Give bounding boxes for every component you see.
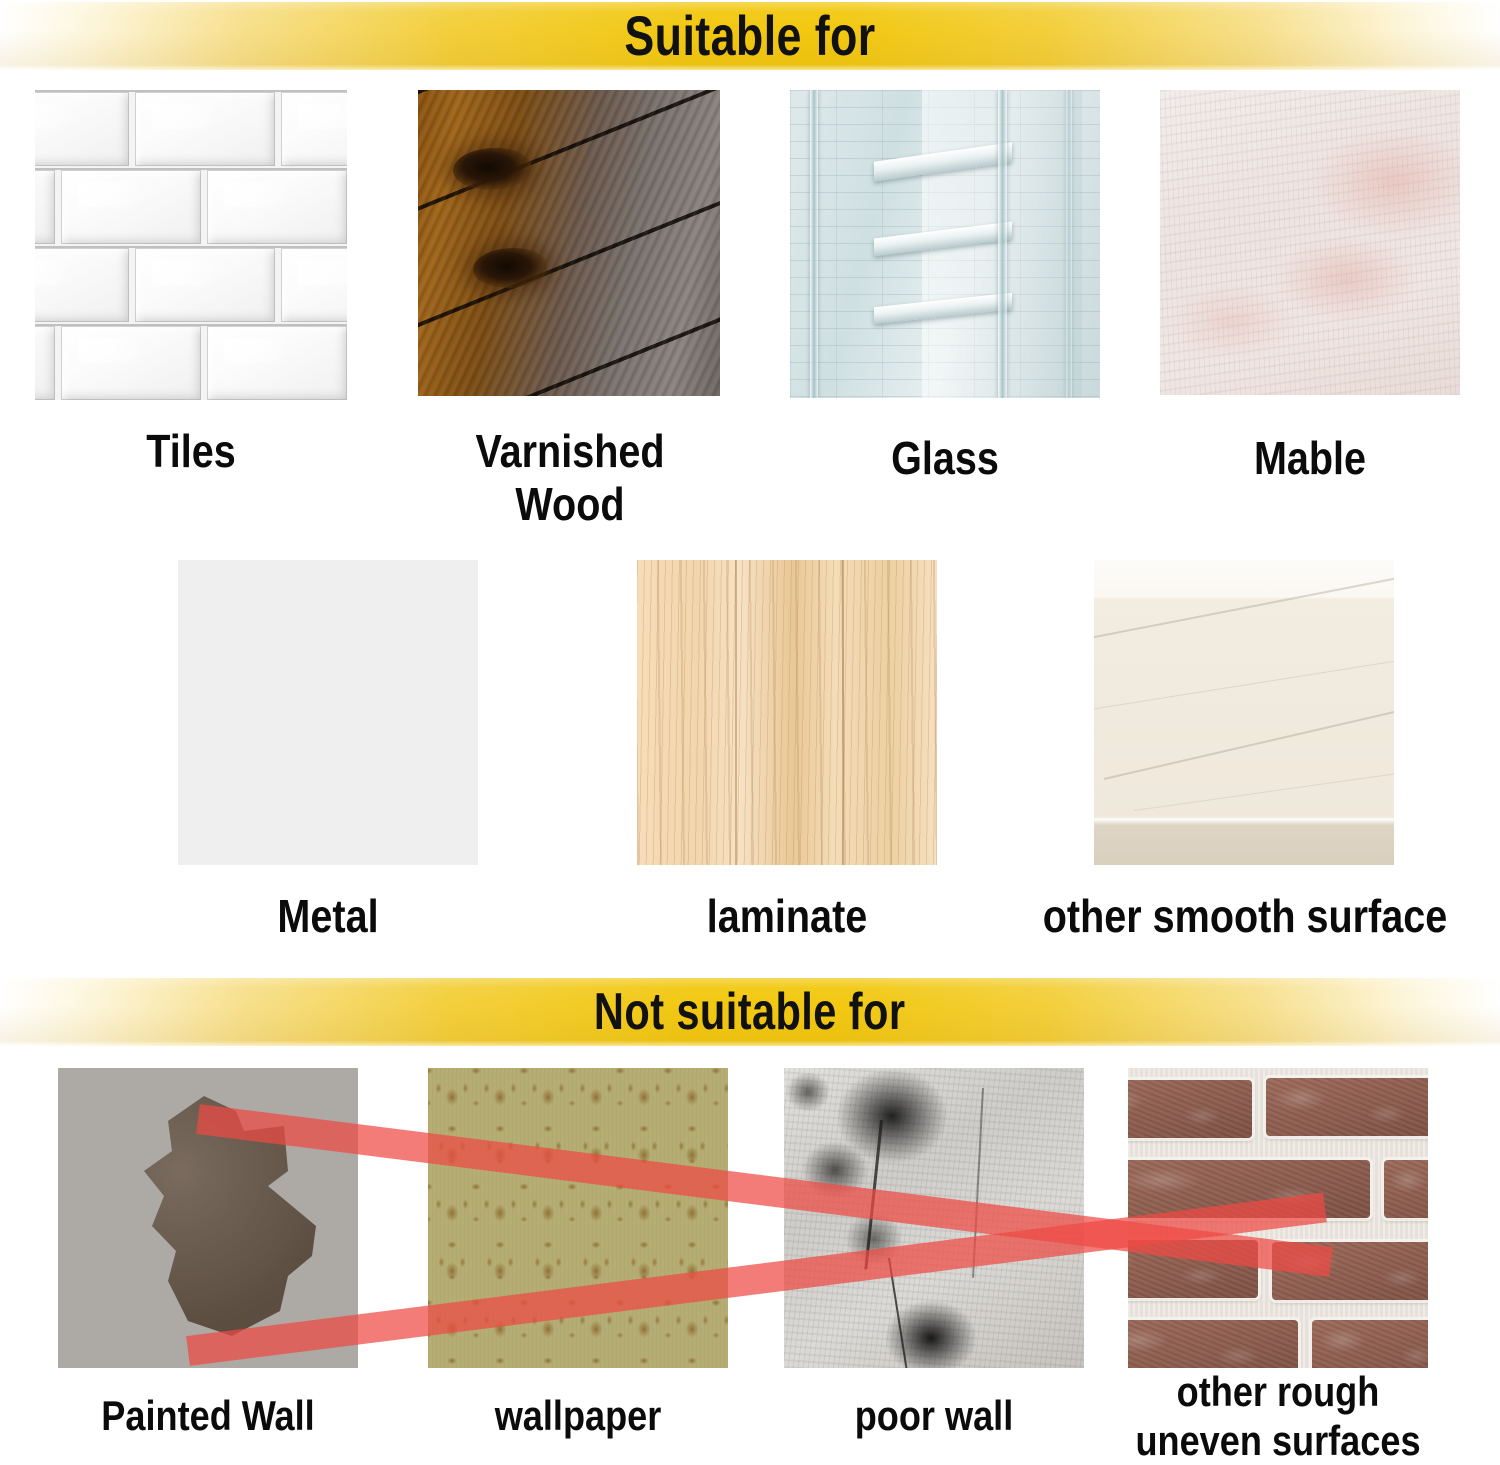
wallpaper-motif — [476, 1348, 524, 1368]
image-laminate — [637, 560, 937, 865]
image-painted-wall — [58, 1068, 358, 1368]
wallpaper-motif — [428, 1348, 476, 1368]
wallpaper-motif — [692, 1174, 728, 1232]
wallpaper-motif — [524, 1348, 572, 1368]
wallpaper-motif — [716, 1232, 728, 1290]
wallpaper-motif — [668, 1116, 716, 1174]
image-other-smooth-surface — [1094, 560, 1394, 865]
image-brick-wall — [1128, 1068, 1428, 1368]
wallpaper-motif — [644, 1068, 692, 1116]
wallpaper-motif — [716, 1116, 728, 1174]
not-suitable-for-banner: Not suitable for — [0, 978, 1500, 1046]
caption-laminate: laminate — [658, 890, 916, 943]
wallpaper-motif — [452, 1290, 500, 1348]
wallpaper-motif — [524, 1232, 572, 1290]
wallpaper-motif — [572, 1232, 620, 1290]
image-varnished-wood — [418, 90, 720, 396]
wallpaper-motif — [620, 1116, 668, 1174]
wallpaper-motif — [596, 1290, 644, 1348]
wallpaper-motif — [500, 1290, 548, 1348]
caption-other-smooth-surface: other smooth surface — [1034, 890, 1455, 943]
wallpaper-motif — [692, 1290, 728, 1348]
wallpaper-motif — [500, 1174, 548, 1232]
wallpaper-motif — [428, 1290, 452, 1348]
wallpaper-motif — [692, 1068, 728, 1116]
wallpaper-motif — [620, 1348, 668, 1368]
caption-wallpaper: wallpaper — [449, 1392, 707, 1441]
image-mable — [1160, 90, 1460, 395]
image-tiles — [35, 90, 347, 400]
wallpaper-motif — [644, 1174, 692, 1232]
caption-painted-wall: Painted Wall — [62, 1392, 354, 1441]
suitable-for-title: Suitable for — [624, 8, 875, 64]
suitable-for-banner: Suitable for — [0, 2, 1500, 70]
wallpaper-motif — [476, 1116, 524, 1174]
wallpaper-motif — [668, 1232, 716, 1290]
wallpaper-motif — [428, 1116, 476, 1174]
wallpaper-motif — [452, 1068, 500, 1116]
wallpaper-motif — [428, 1174, 452, 1232]
caption-tiles: Tiles — [57, 425, 325, 478]
caption-other-rough-uneven-surfaces: other rough uneven surfaces — [1132, 1368, 1424, 1465]
wallpaper-motif — [572, 1116, 620, 1174]
caption-mable: Mable — [1181, 432, 1439, 485]
caption-poor-wall: poor wall — [805, 1392, 1063, 1441]
wallpaper-motif — [500, 1068, 548, 1116]
wallpaper-motif — [596, 1174, 644, 1232]
wallpaper-motif — [548, 1290, 596, 1348]
caption-varnished-wood: Varnished Wood — [424, 425, 716, 532]
image-poor-wall — [784, 1068, 1084, 1368]
wallpaper-motif — [572, 1348, 620, 1368]
image-glass — [790, 90, 1100, 398]
wallpaper-motif — [476, 1232, 524, 1290]
wallpaper-motif — [596, 1068, 644, 1116]
wallpaper-motif — [716, 1348, 728, 1368]
image-wallpaper — [428, 1068, 728, 1368]
wallpaper-motif — [644, 1290, 692, 1348]
wallpaper-motif — [548, 1174, 596, 1232]
wallpaper-motif — [668, 1348, 716, 1368]
not-suitable-for-title: Not suitable for — [594, 986, 905, 1038]
wallpaper-motif — [452, 1174, 500, 1232]
wallpaper-motif — [428, 1068, 452, 1116]
wallpaper-motif — [428, 1232, 476, 1290]
caption-metal: Metal — [199, 890, 457, 943]
wallpaper-motif — [620, 1232, 668, 1290]
caption-glass: Glass — [812, 432, 1079, 485]
wallpaper-motif — [548, 1068, 596, 1116]
image-metal — [178, 560, 478, 865]
wallpaper-motif — [524, 1116, 572, 1174]
